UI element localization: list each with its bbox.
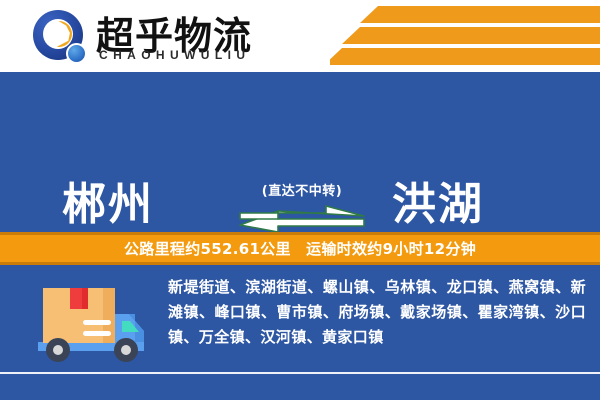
direct-route-caption: (直达不中转) — [238, 184, 366, 200]
logo-inner-circle-shape — [43, 19, 73, 49]
logistics-route-poster: 超乎物流 CHAOHUWULIU 郴州 (直达不中转) 【往返运输】 洪湖 公路… — [0, 0, 600, 400]
route-panel: 郴州 (直达不中转) 【往返运输】 洪湖 — [0, 72, 600, 232]
coverage-panel: 新堤街道、滨湖街道、螺山镇、乌林镇、龙口镇、燕窝镇、新滩镇、峰口镇、曹市镇、府场… — [0, 265, 600, 400]
poster-header: 超乎物流 CHAOHUWULIU — [0, 0, 600, 72]
delivery-truck-icon — [25, 280, 160, 368]
orange-speed-stripes-icon — [330, 6, 600, 66]
chaohu-logo-icon — [33, 10, 89, 66]
brand-name-en: CHAOHUWULIU — [99, 48, 250, 62]
origin-city: 郴州 — [62, 168, 154, 232]
distance-duration-text: 公路里程约552.61公里 运输时效约9小时12分钟 — [124, 238, 476, 259]
logo-dot-shape — [66, 43, 87, 64]
bottom-divider — [0, 372, 600, 374]
destination-city: 洪湖 — [392, 168, 484, 232]
distance-duration-bar: 公路里程约552.61公里 运输时效约9小时12分钟 — [0, 232, 600, 265]
double-headed-arrow-icon — [238, 205, 366, 235]
coverage-areas-text: 新堤街道、滨湖街道、螺山镇、乌林镇、龙口镇、燕窝镇、新滩镇、峰口镇、曹市镇、府场… — [168, 275, 586, 350]
